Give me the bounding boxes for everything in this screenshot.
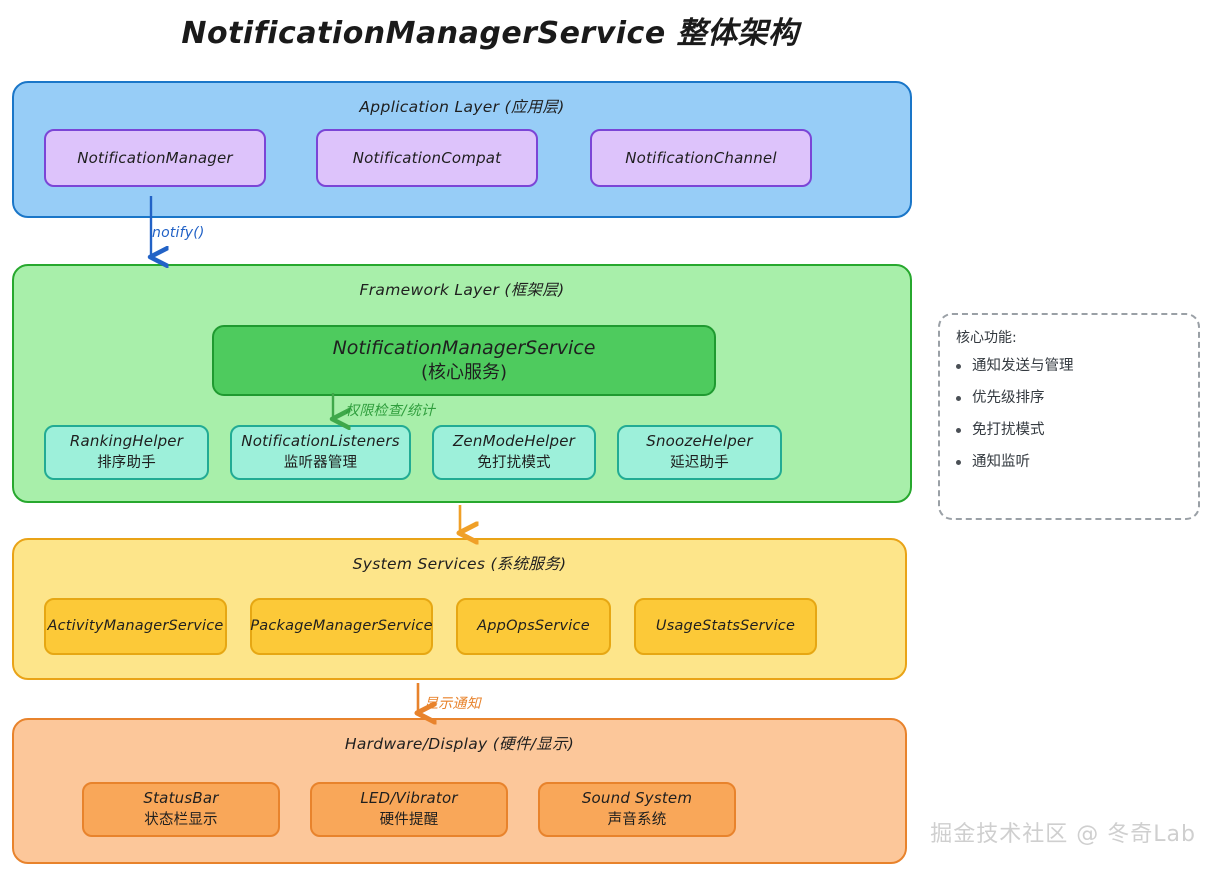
node-notification-compat[interactable]: NotificationCompat [316, 129, 538, 187]
layer-application-title: Application Layer (应用层) [14, 95, 910, 117]
node-label-en: Sound System [582, 787, 692, 810]
node-label-en: PackageManagerService [250, 616, 432, 638]
node-label-en: NotificationListeners [241, 430, 399, 453]
node-notification-channel[interactable]: NotificationChannel [590, 129, 812, 187]
node-label-en: SnoozeHelper [646, 430, 752, 453]
layer-framework: Framework Layer (框架层) NotificationManage… [12, 264, 912, 503]
node-snooze-helper[interactable]: SnoozeHelper 延迟助手 [617, 425, 782, 480]
list-item: 免打扰模式 [954, 417, 1184, 445]
layer-framework-title: Framework Layer (框架层) [14, 278, 910, 300]
node-label-en: NotificationManager [77, 147, 233, 170]
arrow-label-notify: notify() [152, 225, 205, 241]
watermark: 掘金技术社区 @ 冬奇Lab [930, 816, 1196, 848]
node-label-en: NotificationChannel [625, 147, 776, 170]
list-item: 通知监听 [954, 449, 1184, 477]
node-label-cn: 监听器管理 [284, 453, 358, 475]
node-label-en: StatusBar [143, 787, 218, 810]
node-package-manager-service[interactable]: PackageManagerService [250, 598, 433, 655]
node-label-cn: 免打扰模式 [477, 453, 551, 475]
node-usage-stats-service[interactable]: UsageStatsService [634, 598, 817, 655]
list-item: 通知发送与管理 [954, 353, 1184, 381]
arrow-label-permission: 权限检查/统计 [345, 400, 435, 420]
node-label-cn: 排序助手 [97, 453, 156, 475]
core-features-title: 核心功能: [956, 327, 1184, 347]
page-title: NotificationManagerService 整体架构 [0, 8, 980, 52]
node-notification-manager-service[interactable]: NotificationManagerService (核心服务) [212, 325, 716, 396]
node-notification-listeners[interactable]: NotificationListeners 监听器管理 [230, 425, 411, 480]
node-label-en: LED/Vibrator [360, 787, 457, 810]
layer-system-services-title: System Services (系统服务) [14, 552, 905, 574]
node-label-en: NotificationManagerService [333, 336, 596, 362]
node-label-en: UsageStatsService [656, 616, 795, 638]
node-label-en: AppOpsService [477, 616, 590, 638]
node-label-cn: 声音系统 [608, 810, 667, 832]
core-features-list: 通知发送与管理 优先级排序 免打扰模式 通知监听 [954, 353, 1184, 477]
system-node-row: ActivityManagerService PackageManagerSer… [14, 598, 905, 655]
layer-application: Application Layer (应用层) NotificationMana… [12, 81, 912, 218]
layer-hardware-display-title: Hardware/Display (硬件/显示) [14, 732, 905, 754]
node-label-en: ActivityManagerService [47, 616, 223, 638]
framework-node-row: RankingHelper 排序助手 NotificationListeners… [14, 425, 910, 480]
node-app-ops-service[interactable]: AppOpsService [456, 598, 611, 655]
hardware-node-row: StatusBar 状态栏显示 LED/Vibrator 硬件提醒 Sound … [14, 782, 905, 837]
list-item: 优先级排序 [954, 385, 1184, 413]
core-features-panel: 核心功能: 通知发送与管理 优先级排序 免打扰模式 通知监听 [938, 313, 1200, 520]
node-status-bar[interactable]: StatusBar 状态栏显示 [82, 782, 280, 837]
node-led-vibrator[interactable]: LED/Vibrator 硬件提醒 [310, 782, 508, 837]
node-activity-manager-service[interactable]: ActivityManagerService [44, 598, 227, 655]
application-node-row: NotificationManager NotificationCompat N… [14, 129, 910, 187]
layer-hardware-display: Hardware/Display (硬件/显示) StatusBar 状态栏显示… [12, 718, 907, 864]
arrow-label-display-notification: 显示通知 [424, 693, 481, 713]
node-label-en: NotificationCompat [353, 147, 502, 170]
node-sound-system[interactable]: Sound System 声音系统 [538, 782, 736, 837]
node-label-cn: (核心服务) [421, 361, 507, 385]
node-label-cn: 硬件提醒 [380, 810, 439, 832]
node-label-en: RankingHelper [70, 430, 183, 453]
node-label-cn: 延迟助手 [670, 453, 729, 475]
node-notification-manager[interactable]: NotificationManager [44, 129, 266, 187]
layer-system-services: System Services (系统服务) ActivityManagerSe… [12, 538, 907, 680]
node-label-en: ZenModeHelper [453, 430, 575, 453]
node-label-cn: 状态栏显示 [144, 810, 218, 832]
node-ranking-helper[interactable]: RankingHelper 排序助手 [44, 425, 209, 480]
node-zen-mode-helper[interactable]: ZenModeHelper 免打扰模式 [432, 425, 596, 480]
